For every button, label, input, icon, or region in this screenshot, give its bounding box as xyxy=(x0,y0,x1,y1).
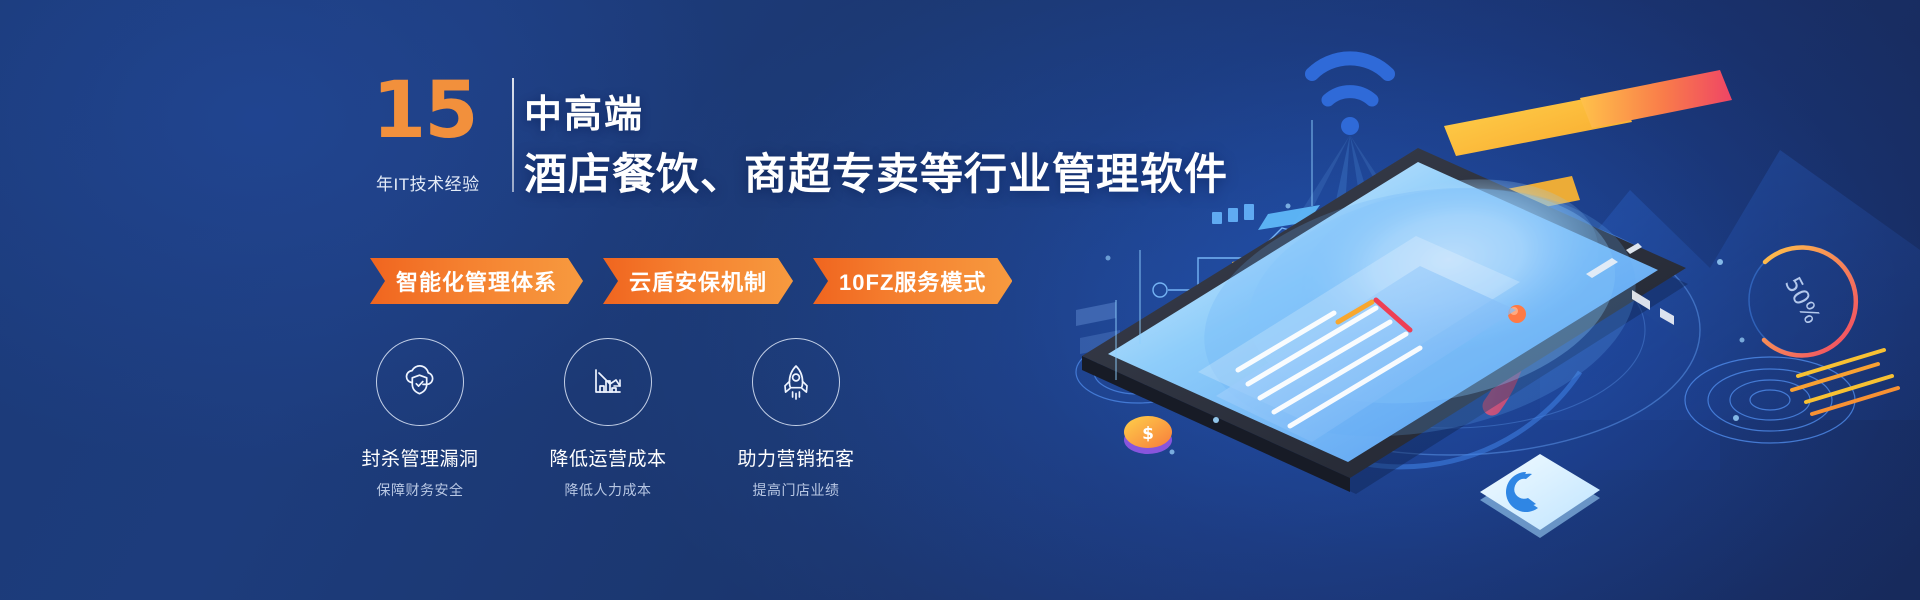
feature-list: 封杀管理漏洞 保障财务安全 xyxy=(355,338,861,500)
feature-tag-list: 智能化管理体系 云盾安保机制 10FZ服务模式 xyxy=(370,258,1012,304)
feature-title-3: 助力营销拓客 xyxy=(737,444,854,471)
cloud-shield-icon xyxy=(397,359,443,405)
feature-tag-1[interactable]: 智能化管理体系 xyxy=(370,258,583,304)
vertical-divider xyxy=(512,78,514,192)
feature-title-1: 封杀管理漏洞 xyxy=(361,444,478,471)
feature-tag-2[interactable]: 云盾安保机制 xyxy=(603,258,793,304)
feature-icon-frame-1 xyxy=(376,338,464,426)
feature-subtitle-1: 保障财务安全 xyxy=(377,480,464,500)
headline-line-1: 中高端 xyxy=(524,83,644,138)
years-caption: 年IT技术经验 xyxy=(376,170,480,195)
declining-bar-chart-icon xyxy=(585,359,631,405)
feature-icon-frame-2 xyxy=(564,338,652,426)
feature-tag-3[interactable]: 10FZ服务模式 xyxy=(813,258,1012,304)
illustration-artwork: $ 50% xyxy=(1020,0,1920,600)
feature-item-2[interactable]: 降低运营成本 降低人力成本 xyxy=(543,338,673,500)
feature-item-3[interactable]: 助力营销拓客 提高门店业绩 xyxy=(731,338,861,500)
feature-item-1[interactable]: 封杀管理漏洞 保障财务安全 xyxy=(355,338,485,500)
rocket-icon xyxy=(773,359,819,405)
feature-icon-frame-3 xyxy=(752,338,840,426)
svg-text:$: $ xyxy=(1142,424,1154,444)
wifi-signal-icon xyxy=(1312,58,1388,135)
years-number: 15 xyxy=(372,72,477,150)
coin-dollar-badge: $ xyxy=(1124,416,1172,454)
headline-line-2: 酒店餐饮、商超专卖等行业管理软件 xyxy=(524,140,1228,202)
feature-title-2: 降低运营成本 xyxy=(549,444,666,471)
feature-subtitle-2: 降低人力成本 xyxy=(565,480,652,500)
feature-subtitle-3: 提高门店业绩 xyxy=(753,480,840,500)
left-content: 15 年IT技术经验 中高端 酒店餐饮、商超专卖等行业管理软件 智能化管理体系 … xyxy=(0,0,1120,600)
hero-banner: $ 50% xyxy=(0,0,1920,600)
